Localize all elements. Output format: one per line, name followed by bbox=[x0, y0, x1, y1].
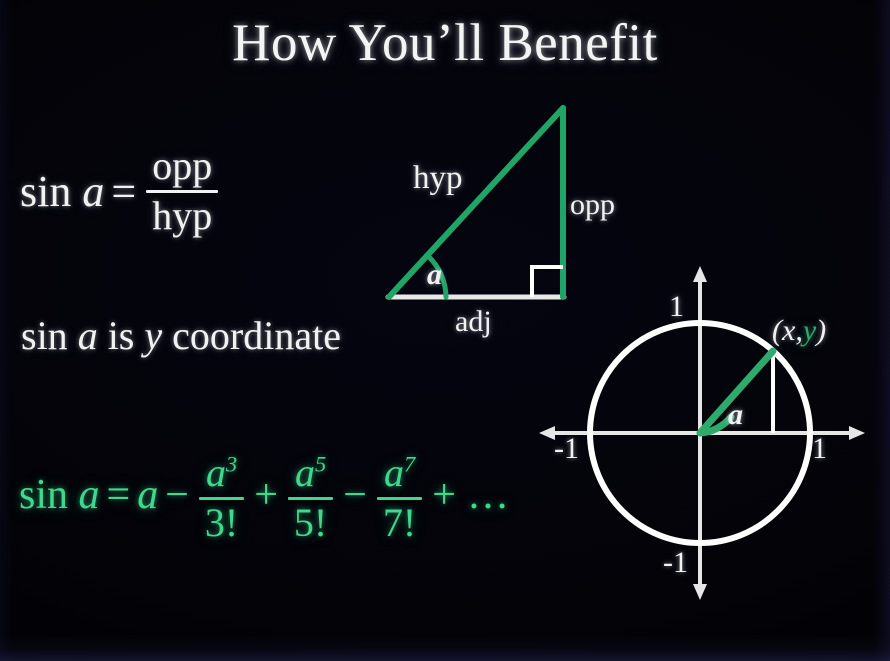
series-sign-2: + bbox=[247, 472, 285, 518]
triangle-adjacent-label: adj bbox=[455, 305, 492, 339]
bottom-edge-glow bbox=[0, 635, 890, 661]
statement-middle: is bbox=[108, 313, 135, 358]
series-tail-sign: + bbox=[425, 472, 463, 518]
unit-circle-axis-label-left: -1 bbox=[554, 432, 579, 466]
series-numerator-3: a7 bbox=[377, 452, 422, 495]
unit-circle-point-label: (x,y) bbox=[772, 314, 826, 348]
statement-variable: a bbox=[78, 313, 98, 358]
series-base-3: a bbox=[384, 450, 404, 495]
sine-definition-denominator: hyp bbox=[146, 194, 218, 237]
series-numerator-2: a5 bbox=[288, 452, 333, 495]
series-sign-1: − bbox=[158, 472, 196, 518]
statement-prefix: sin bbox=[21, 313, 68, 358]
sine-definition-variable: a bbox=[82, 167, 104, 216]
triangle-hypotenuse-label: hyp bbox=[413, 160, 463, 197]
series-fraction-1: a33! bbox=[199, 452, 244, 545]
left-edge-glow bbox=[0, 0, 12, 661]
statement-suffix: coordinate bbox=[172, 313, 341, 358]
x-axis-right-arrowhead bbox=[849, 426, 865, 440]
series-fraction-2: a55! bbox=[288, 452, 333, 545]
series-sign-3: − bbox=[336, 472, 374, 518]
series-variable: a bbox=[79, 472, 100, 518]
sine-definition-numerator: opp bbox=[146, 145, 218, 188]
unit-circle-angle-label: a bbox=[728, 398, 743, 432]
statement-coordinate-variable: y bbox=[144, 313, 162, 358]
y-axis-bottom-arrowhead bbox=[693, 584, 707, 600]
x-axis-left-arrowhead bbox=[539, 426, 555, 440]
sine-definition-lhs: sin bbox=[20, 167, 71, 216]
series-numerator-1: a3 bbox=[199, 452, 244, 495]
series-power-2: 5 bbox=[315, 452, 326, 477]
triangle-angle-label: a bbox=[427, 258, 442, 292]
series-denominator-1: 3! bbox=[199, 501, 244, 544]
right-edge-glow bbox=[874, 0, 890, 661]
series-denominator-2: 5! bbox=[288, 501, 333, 544]
unit-circle-axis-label-right: 1 bbox=[812, 432, 827, 466]
equation-sine-definition: sin a=opphyp bbox=[20, 145, 221, 238]
series-first-term: a bbox=[137, 472, 158, 518]
statement-sine-is-y-coordinate: sin a is y coordinate bbox=[21, 312, 341, 359]
slide-title: How You’ll Benefit bbox=[0, 16, 890, 72]
point-y-value: y bbox=[803, 314, 816, 347]
series-denominator-3: 7! bbox=[377, 501, 422, 544]
sine-definition-equals: = bbox=[104, 167, 143, 216]
series-base-1: a bbox=[206, 450, 226, 495]
unit-circle-axis-label-bottom: -1 bbox=[663, 546, 688, 580]
point-close-paren: ) bbox=[816, 314, 826, 347]
y-axis-top-arrowhead bbox=[693, 266, 707, 282]
series-lhs: sin bbox=[19, 472, 68, 518]
unit-circle-axis-label-top: 1 bbox=[669, 290, 684, 324]
equation-taylor-series: sin a=a−a33!+a55!−a77!+… bbox=[19, 452, 511, 545]
sine-definition-fraction: opphyp bbox=[146, 145, 218, 238]
slide-canvas: How You’ll Benefit sin a=opphyp sin a is… bbox=[0, 0, 890, 661]
series-power-3: 7 bbox=[404, 452, 415, 477]
point-x-value: x, bbox=[782, 314, 803, 347]
series-equals: = bbox=[100, 472, 138, 518]
series-power-1: 3 bbox=[226, 452, 237, 477]
series-fraction-3: a77! bbox=[377, 452, 422, 545]
point-open-paren: ( bbox=[772, 314, 782, 347]
series-base-2: a bbox=[295, 450, 315, 495]
triangle-opposite-label: opp bbox=[570, 188, 615, 222]
series-ellipsis: … bbox=[463, 472, 511, 518]
